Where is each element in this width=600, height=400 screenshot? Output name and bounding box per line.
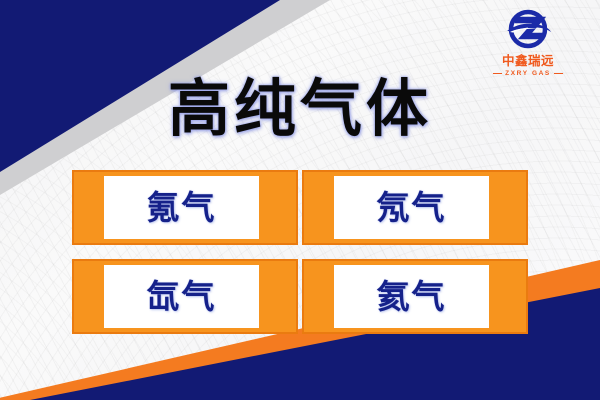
- product-card-neon[interactable]: 氖气: [302, 170, 528, 245]
- product-label-panel: 氦气: [334, 265, 489, 328]
- product-label: 氙气: [147, 280, 217, 313]
- product-label: 氖气: [377, 191, 447, 224]
- logo-name-cn: 中鑫瑞远: [502, 55, 554, 69]
- poster-canvas: 中鑫瑞远 ZXRY GAS 高纯气体 氪气 氖气 氙气 氦气: [0, 0, 600, 400]
- page-title: 高纯气体: [0, 78, 600, 140]
- logo-name-en-wrap: ZXRY GAS: [493, 70, 563, 77]
- product-card-krypton[interactable]: 氪气: [72, 170, 298, 245]
- logo-dash-left: [493, 73, 502, 74]
- product-label-panel: 氪气: [104, 176, 259, 239]
- product-grid: 氪气 氖气 氙气 氦气: [72, 170, 528, 334]
- product-card-helium[interactable]: 氦气: [302, 259, 528, 334]
- company-logo[interactable]: 中鑫瑞远 ZXRY GAS: [474, 6, 582, 84]
- product-label-panel: 氖气: [334, 176, 489, 239]
- logo-name-en: ZXRY GAS: [505, 70, 551, 77]
- z-circle-swoosh-logo-icon: [503, 6, 553, 54]
- product-label-panel: 氙气: [104, 265, 259, 328]
- product-label: 氦气: [377, 280, 447, 313]
- product-label: 氪气: [147, 191, 217, 224]
- product-card-xenon[interactable]: 氙气: [72, 259, 298, 334]
- logo-dash-right: [554, 73, 563, 74]
